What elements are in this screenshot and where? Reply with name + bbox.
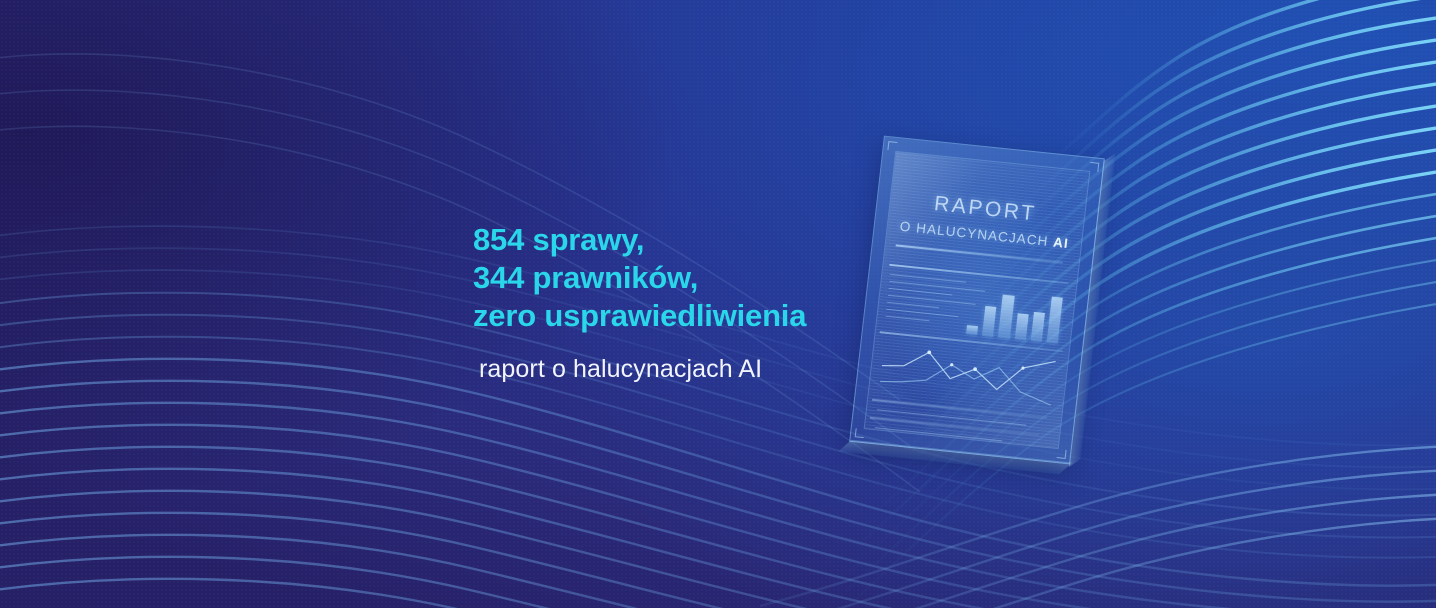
- line-chart-nodes: [926, 350, 1026, 376]
- document-corner-tl: [887, 141, 897, 151]
- document-corner-bl: [855, 428, 865, 438]
- document-text-line: [885, 316, 929, 322]
- document-bar-chart: [966, 282, 1063, 343]
- line-chart-svg: [876, 338, 1060, 416]
- bar: [982, 306, 997, 337]
- banner-hero: 854 sprawy, 344 prawników, zero usprawie…: [0, 0, 1436, 608]
- bar: [998, 295, 1014, 338]
- bar: [1030, 312, 1044, 342]
- document-line-chart: [876, 338, 1060, 416]
- bar: [1047, 297, 1063, 344]
- bar: [966, 325, 978, 335]
- document-content: RAPORT O HALUCYNACJACH AI: [864, 151, 1091, 449]
- document-corner-br: [1057, 449, 1067, 459]
- line-series-b: [879, 356, 1054, 405]
- bar: [1014, 313, 1028, 340]
- line-series-a: [881, 344, 1056, 395]
- document-text-line: [887, 302, 939, 309]
- report-document-illustration: RAPORT O HALUCYNACJACH AI: [838, 128, 1138, 488]
- document-cover-subtitle-highlight: AI: [1052, 235, 1069, 252]
- document-corner-tr: [1089, 162, 1099, 172]
- document-rule-2: [889, 264, 1068, 284]
- document-text-line: [889, 288, 953, 296]
- document-card: RAPORT O HALUCYNACJACH AI: [849, 136, 1105, 465]
